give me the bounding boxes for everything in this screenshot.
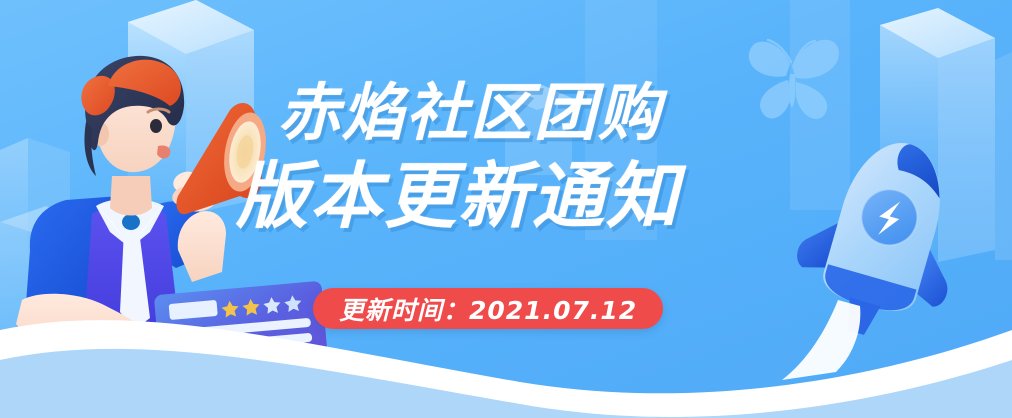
promo-banner: 赤焰社区团购 版本更新通知 更新时间：2021.07.12 (0, 0, 1012, 418)
bottom-wave (0, 0, 1012, 418)
update-date-badge: 更新时间：2021.07.12 (313, 288, 663, 329)
update-date-text: 更新时间：2021.07.12 (339, 291, 637, 327)
